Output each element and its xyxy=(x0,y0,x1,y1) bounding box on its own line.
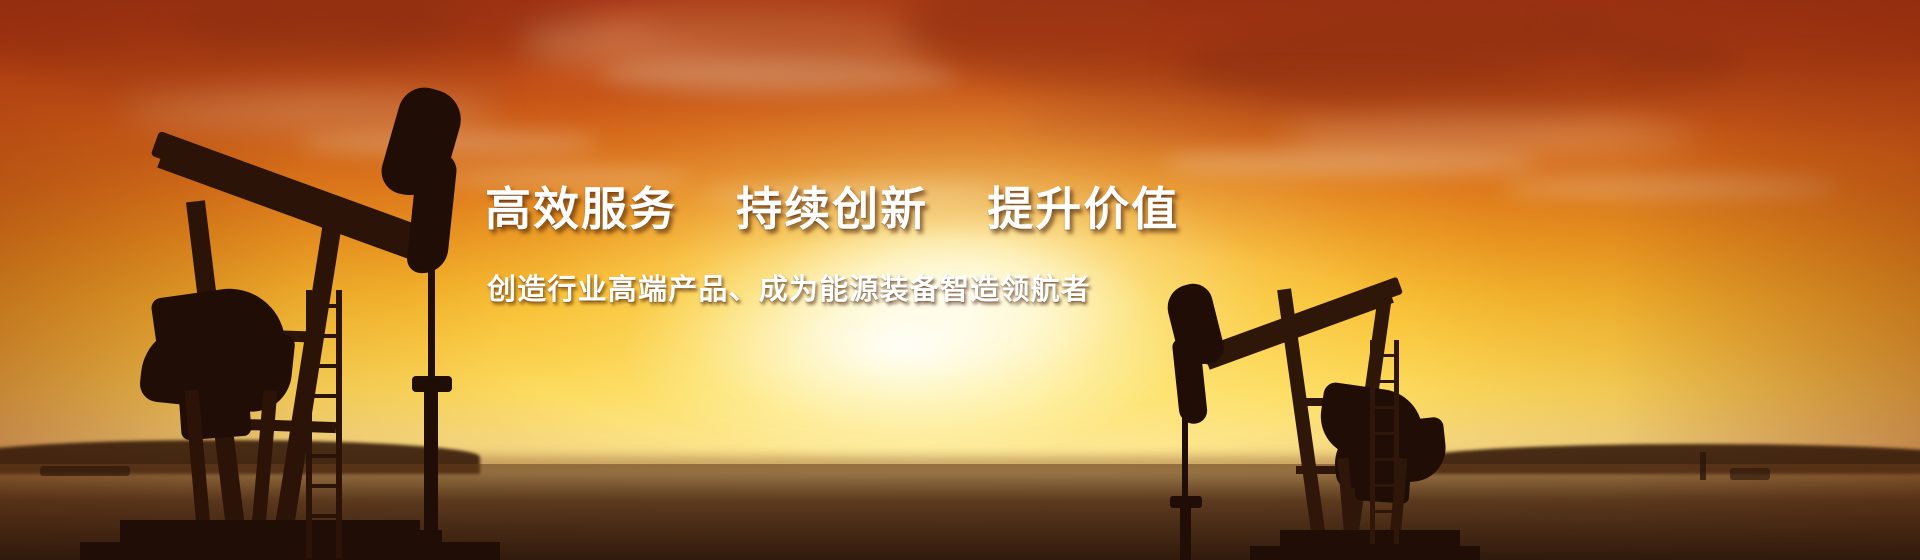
hero-banner: 高效服务 持续创新 提升价值 创造行业高端产品、成为能源装备智造领航者 xyxy=(0,0,1920,560)
banner-headline: 高效服务 持续创新 提升价值 xyxy=(485,186,1179,232)
banner-subheadline: 创造行业高端产品、成为能源装备智造领航者 xyxy=(487,276,1091,305)
